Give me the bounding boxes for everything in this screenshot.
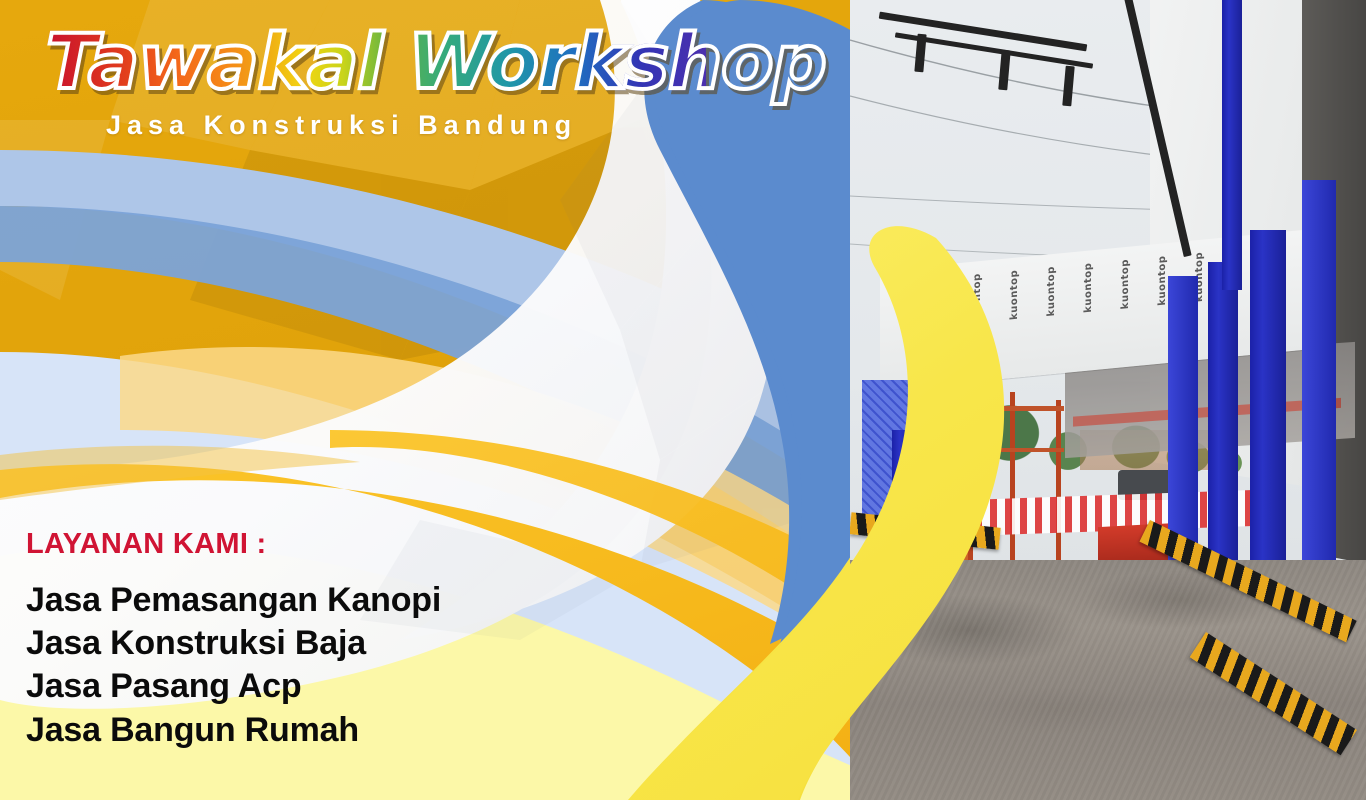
banner-text: kuontop (1009, 269, 1020, 320)
photo-blue-column-top (1222, 0, 1242, 290)
service-item: Jasa Bangun Rumah (26, 709, 646, 752)
photo-red-stripe (1073, 398, 1341, 427)
service-item: Jasa Pasang Acp (26, 665, 646, 708)
promotional-banner: kuontop kuontop kuontop kuontop kuontop … (0, 0, 1366, 800)
services-list: Jasa Pemasangan Kanopi Jasa Konstruksi B… (26, 579, 646, 752)
logo-block: Tawakal Workshop Jasa Konstruksi Bandung (46, 22, 706, 141)
brand-tagline: Jasa Konstruksi Bandung (106, 110, 706, 141)
services-block: LAYANAN KAMI : Jasa Pemasangan Kanopi Ja… (26, 528, 646, 752)
photo-scaffold-rail (968, 406, 1064, 411)
service-item: Jasa Konstruksi Baja (26, 622, 646, 665)
banner-text: kuontop (972, 273, 983, 324)
brand-title: Tawakal Workshop (46, 22, 706, 102)
banner-text: kuontop (1083, 262, 1094, 313)
photo-scaffold-rail (968, 448, 1064, 452)
banner-text: kuontop (1120, 259, 1131, 310)
services-heading: LAYANAN KAMI : (26, 528, 646, 561)
banner-text: kuontop (1046, 266, 1057, 317)
service-item: Jasa Pemasangan Kanopi (26, 579, 646, 622)
banner-text: kuontop (1157, 255, 1168, 306)
construction-site-photo: kuontop kuontop kuontop kuontop kuontop … (850, 0, 1366, 800)
